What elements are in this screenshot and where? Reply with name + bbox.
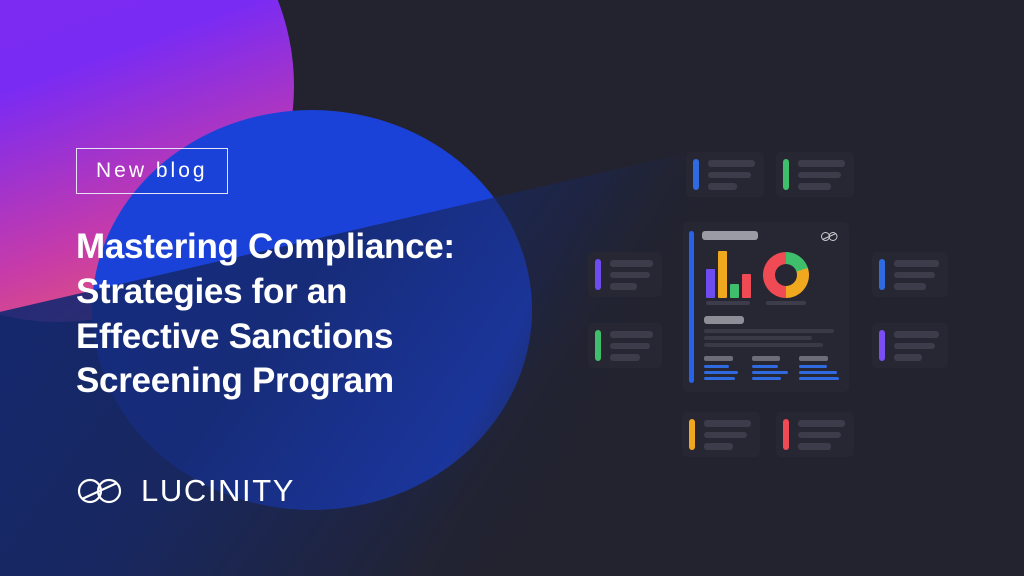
placeholder-line (610, 354, 640, 361)
green-accent-bar (783, 159, 789, 190)
dashboard-illustration (582, 140, 964, 475)
mini-card-bottom-right (776, 412, 854, 457)
placeholder-line (894, 272, 935, 279)
placeholder-lines (798, 159, 845, 190)
blue-accent-bar (879, 259, 885, 290)
new-blog-badge: New blog (76, 148, 228, 194)
lucinity-logo: LUCINITY (76, 473, 295, 509)
placeholder-line (704, 432, 747, 439)
placeholder-line (798, 443, 831, 450)
placeholder-lines (798, 419, 845, 450)
blue-accent-bar (693, 159, 699, 190)
donut-chart-label (766, 301, 806, 305)
link-line (704, 377, 735, 380)
placeholder-line (610, 260, 653, 267)
placeholder-line (610, 283, 637, 290)
mini-card-left-lower (588, 323, 662, 368)
link-line (799, 365, 827, 368)
blue-accent-bar (689, 231, 694, 383)
column-header (799, 356, 828, 361)
placeholder-line (894, 283, 926, 290)
bar-2 (718, 251, 727, 298)
donut-center (775, 264, 797, 286)
placeholder-line (704, 343, 823, 347)
placeholder-line (798, 183, 831, 190)
amber-accent-bar (689, 419, 695, 450)
mini-card-top-left (686, 152, 764, 197)
red-accent-bar (783, 419, 789, 450)
column-3 (799, 356, 839, 383)
logo-wordmark: LUCINITY (141, 473, 295, 509)
placeholder-line (894, 343, 935, 350)
page-title: Mastering Compliance: Strategies for an … (76, 225, 596, 404)
donut-chart (763, 252, 809, 305)
bar-4 (742, 274, 751, 298)
placeholder-lines (894, 330, 939, 361)
placeholder-line (798, 420, 845, 427)
link-line (704, 371, 738, 374)
placeholder-line (798, 432, 841, 439)
mini-card-bottom-left (682, 412, 760, 457)
headline-block: New blog Mastering Compliance: Strategie… (76, 148, 596, 404)
link-line (704, 365, 729, 368)
mini-card-top-right (776, 152, 854, 197)
main-card-header (702, 231, 839, 242)
placeholder-lines (708, 159, 755, 190)
placeholder-line (708, 183, 737, 190)
column-header (704, 356, 733, 361)
column-2 (752, 356, 792, 383)
placeholder-line (894, 331, 939, 338)
charts-row (702, 251, 839, 305)
headline-line-3: Effective Sanctions (76, 315, 596, 360)
column-1 (704, 356, 744, 383)
card-title-placeholder (702, 231, 758, 240)
text-placeholder-block (702, 316, 839, 347)
placeholder-line (610, 331, 653, 338)
link-line (799, 377, 839, 380)
placeholder-lines (610, 259, 653, 290)
infinity-mark-icon (820, 231, 839, 242)
placeholder-line (704, 420, 751, 427)
mini-card-left-upper (588, 252, 662, 297)
placeholder-line (894, 354, 922, 361)
bar-chart-axis-label (706, 301, 750, 305)
placeholder-line (798, 160, 845, 167)
bar-chart (706, 251, 751, 305)
placeholder-line (610, 343, 650, 350)
placeholder-line (708, 160, 755, 167)
placeholder-lines (610, 330, 653, 361)
placeholder-lines (704, 419, 751, 450)
mini-card-right-lower (872, 323, 948, 368)
placeholder-line (704, 336, 812, 340)
section-title-placeholder (704, 316, 744, 324)
headline-line-1: Mastering Compliance: (76, 225, 596, 270)
violet-accent-bar (879, 330, 885, 361)
placeholder-lines (894, 259, 939, 290)
headline-line-2: Strategies for an (76, 270, 596, 315)
main-dashboard-card (683, 222, 849, 392)
donut-chart-ring (763, 252, 809, 298)
link-line (752, 377, 781, 380)
headline-line-4: Screening Program (76, 359, 596, 404)
placeholder-line (708, 172, 751, 179)
link-line (799, 371, 837, 374)
banner-canvas: New blog Mastering Compliance: Strategie… (0, 0, 1024, 576)
bar-1 (706, 269, 715, 298)
placeholder-line (798, 172, 841, 179)
bar-chart-bars (706, 251, 751, 298)
link-line (752, 365, 778, 368)
main-card-body (702, 231, 839, 383)
placeholder-line (610, 272, 650, 279)
columns-row (702, 356, 839, 383)
bar-3 (730, 284, 739, 298)
infinity-mark-icon (76, 477, 126, 505)
placeholder-line (704, 443, 733, 450)
link-line (752, 371, 788, 374)
placeholder-line (704, 329, 834, 333)
column-header (752, 356, 781, 361)
placeholder-line (894, 260, 939, 267)
mini-card-right-upper (872, 252, 948, 297)
